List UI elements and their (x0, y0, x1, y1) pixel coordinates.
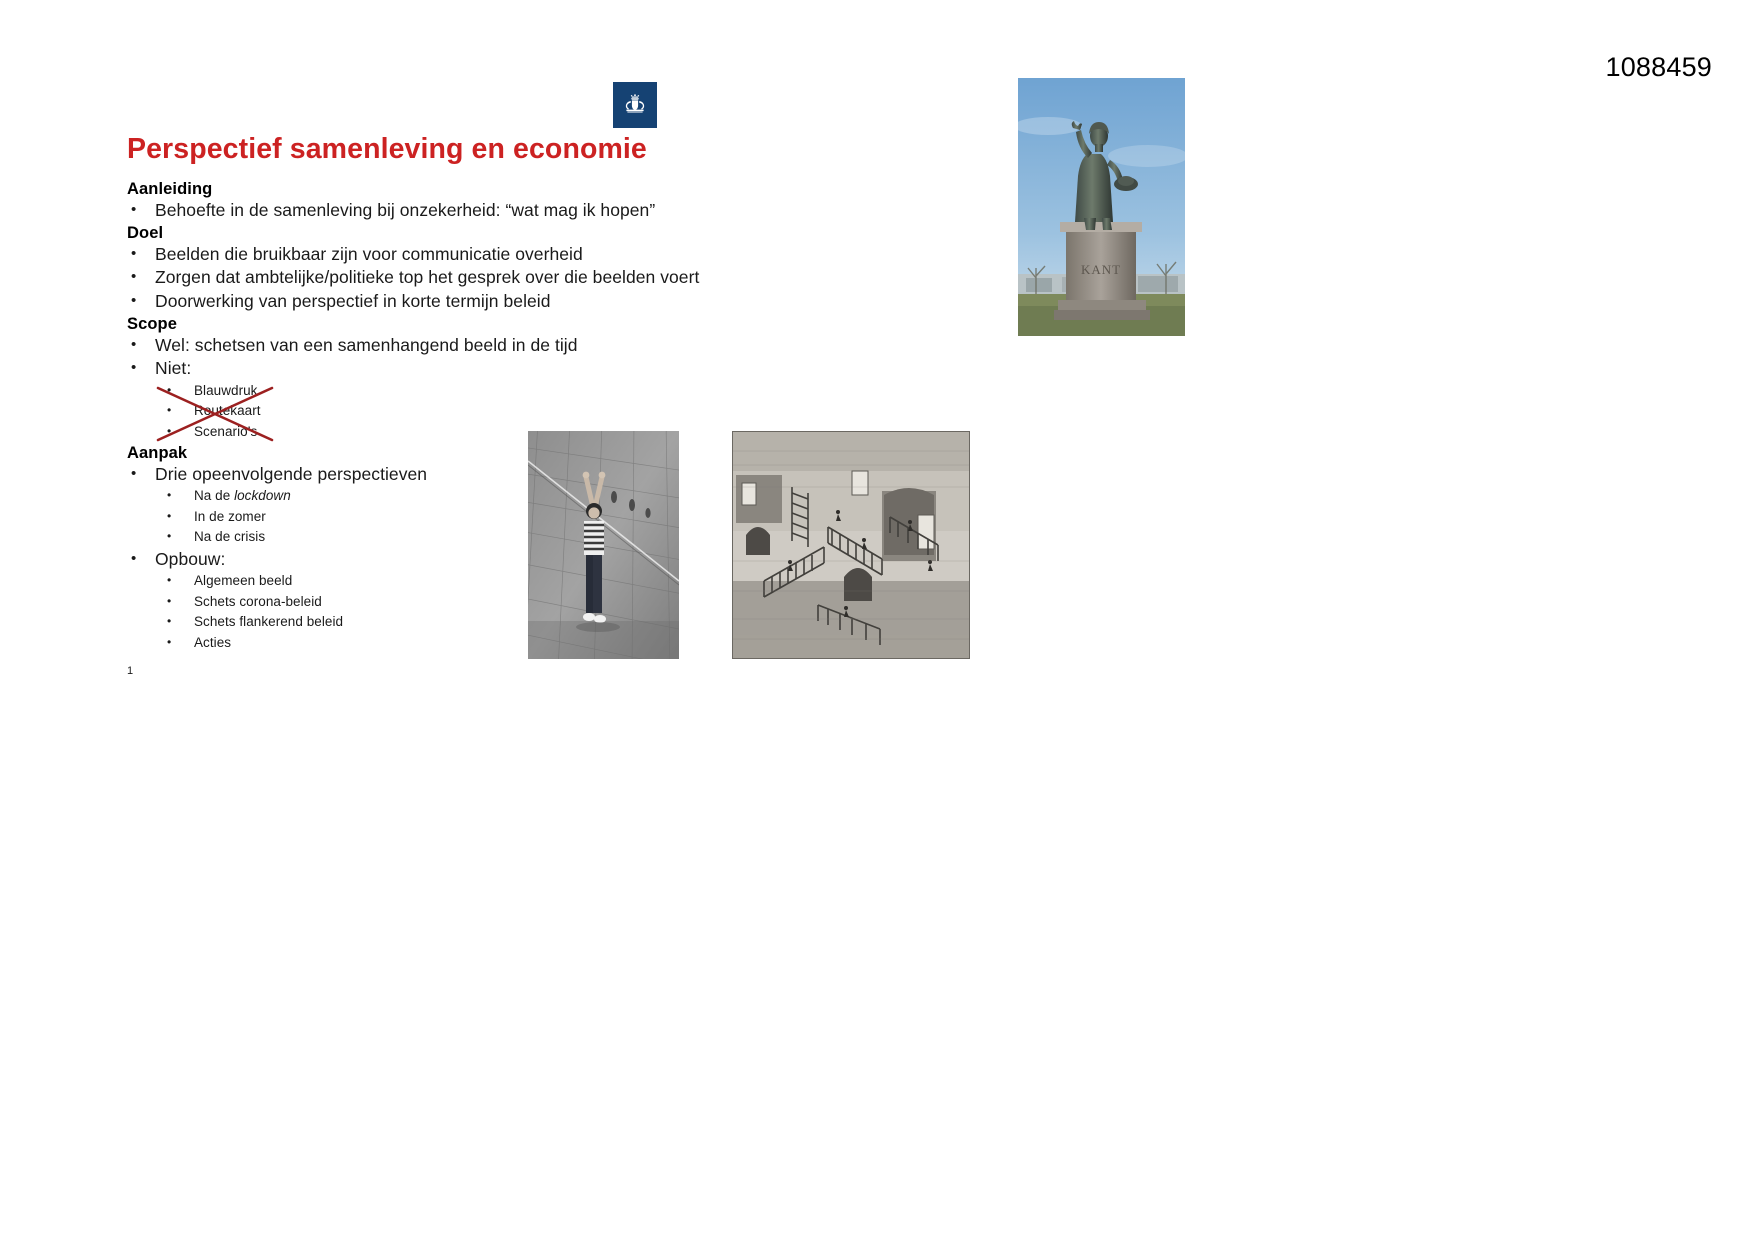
bullet-text: Routekaart (194, 403, 261, 418)
bullet-text: Doorwerking van perspectief in korte ter… (155, 291, 551, 311)
bullet-glyph: • (167, 574, 171, 586)
bullet-glyph: • (131, 466, 136, 481)
bullet-item: • Routekaart (127, 404, 957, 418)
bullet-item: • Blauwdruk (127, 384, 957, 398)
bullet-glyph: • (167, 530, 171, 542)
section-heading-scope: Scope (127, 316, 957, 333)
bullet-text: Na de lockdown (194, 488, 291, 503)
bullet-text: Scenario’s (194, 424, 257, 439)
section-heading-doel: Doel (127, 225, 957, 242)
italic-term: lockdown (234, 488, 291, 503)
bullet-text: Behoefte in de samenleving bij onzekerhe… (155, 200, 655, 220)
escher-relativity-lithograph (732, 431, 970, 659)
bullet-text: Zorgen dat ambtelijke/politieke top het … (155, 267, 699, 287)
bullet-glyph: • (131, 551, 136, 566)
bullet-text: Acties (194, 635, 231, 650)
bullet-text: Wel: schetsen van een samenhangend beeld… (155, 335, 578, 355)
bullet-item: • Behoefte in de samenleving bij onzeker… (127, 202, 957, 220)
crossed-out-group: • Blauwdruk • Routekaart • Scenario’s (127, 384, 957, 439)
page-number: 1 (127, 665, 133, 677)
bullet-text: Niet: (155, 358, 191, 378)
bullet-glyph: • (131, 269, 136, 284)
immanuel-kant-statue-photo: KANT (1018, 78, 1185, 336)
rijksoverheid-logo (613, 82, 657, 128)
bullet-item: • Doorwerking van perspectief in korte t… (127, 293, 957, 311)
bullet-glyph: • (167, 510, 171, 522)
bullet-text: Drie opeenvolgende perspectieven (155, 464, 427, 484)
bullet-text: Algemeen beeld (194, 573, 292, 588)
bullet-text: Beelden die bruikbaar zijn voor communic… (155, 244, 583, 264)
bullet-text: Schets corona-beleid (194, 594, 322, 609)
tightrope-walker-photo (528, 431, 679, 659)
slide-canvas: 1088459 Perspectief samenle (0, 0, 1754, 1241)
section-heading-aanleiding: Aanleiding (127, 181, 957, 198)
bullet-text: Opbouw: (155, 549, 225, 569)
document-id: 1088459 (1605, 52, 1712, 83)
bullet-text: In de zomer (194, 509, 266, 524)
bullet-text: Na de crisis (194, 529, 265, 544)
bullet-item: • Zorgen dat ambtelijke/politieke top he… (127, 269, 957, 287)
bullet-item: • Wel: schetsen van een samenhangend bee… (127, 337, 957, 355)
bullet-glyph: • (131, 337, 136, 352)
bullet-glyph: • (167, 489, 171, 501)
bullet-glyph: • (131, 246, 136, 261)
bullet-glyph: • (167, 404, 171, 416)
bullet-item: • Beelden die bruikbaar zijn voor commun… (127, 246, 957, 264)
bullet-item: • Niet: (127, 360, 957, 378)
bullet-glyph: • (167, 425, 171, 437)
bullet-glyph: • (167, 384, 171, 396)
bullet-glyph: • (131, 202, 136, 217)
bullet-glyph: • (131, 293, 136, 308)
bullet-glyph: • (167, 636, 171, 648)
page-title: Perspectief samenleving en economie (127, 133, 647, 166)
bullet-glyph: • (167, 615, 171, 627)
bullet-text: Schets flankerend beleid (194, 614, 343, 629)
bullet-text: Blauwdruk (194, 383, 257, 398)
bullet-glyph: • (131, 360, 136, 375)
svg-text:KANT: KANT (1081, 262, 1121, 277)
bullet-glyph: • (167, 595, 171, 607)
